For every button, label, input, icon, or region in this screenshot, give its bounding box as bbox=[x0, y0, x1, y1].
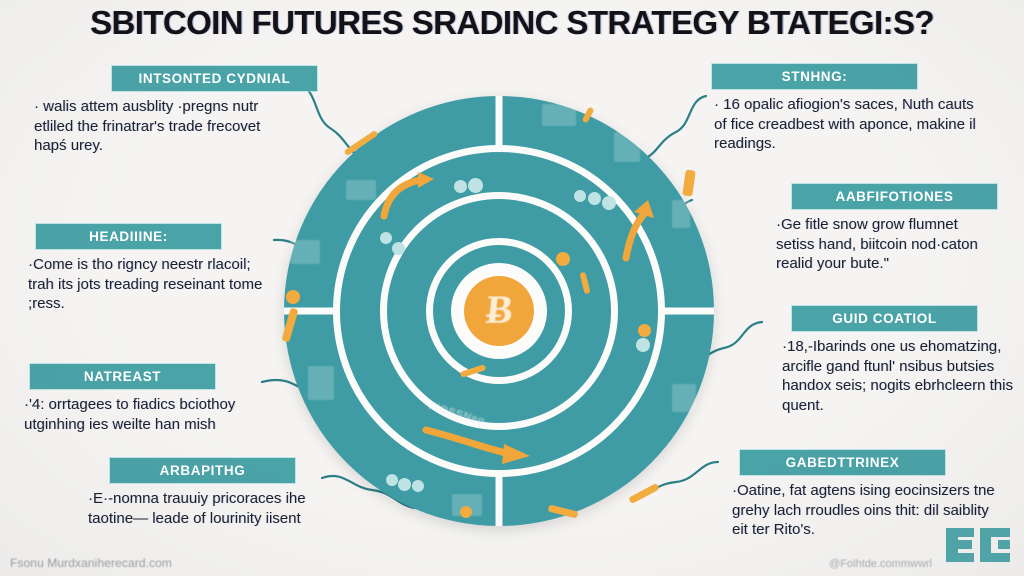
decor-dash-5 bbox=[628, 483, 660, 504]
decor-block-5 bbox=[308, 366, 334, 400]
callout-body: · walis attem ausblity ·pregns nutr etli… bbox=[30, 97, 280, 156]
callout-guid-coatiol[interactable]: GUID COATIOL ·18,-Ibarinds one us ehomat… bbox=[770, 306, 1020, 415]
callout-body: ·Ge fitle snow grow flumnet setiss hand,… bbox=[752, 215, 1000, 274]
decor-dot-orange-1 bbox=[556, 252, 570, 266]
callout-heading: GABEDTTRINEX bbox=[740, 450, 945, 475]
infographic-canvas: SBITCOIN FUTURES SRADINC STRATEGY BTATEG… bbox=[0, 0, 1024, 576]
brand-logo-icon bbox=[944, 526, 1012, 564]
callout-body: · 16 opalic afiogion's saces, Nuth cauts… bbox=[712, 95, 982, 154]
callout-heading: INTSONTED CYDNIAL bbox=[112, 66, 317, 91]
decor-dot-1 bbox=[454, 180, 467, 193]
decor-block-2 bbox=[614, 132, 640, 162]
page-title: SBITCOIN FUTURES SRADINC STRATEGY BTATEG… bbox=[0, 4, 1024, 42]
callout-aabfrotiones[interactable]: AABFIFOTIONES ·Ge fitle snow grow flumne… bbox=[752, 184, 1000, 274]
decor-dot-7 bbox=[392, 242, 405, 255]
callout-headline[interactable]: HEADIIINE: ·Come is tho rigncy neestr rl… bbox=[26, 224, 278, 314]
decor-dot-11 bbox=[412, 480, 424, 492]
decor-dot-9 bbox=[386, 474, 398, 486]
decor-dot-3 bbox=[574, 190, 586, 202]
decor-block-3 bbox=[672, 200, 690, 228]
callout-stnhng[interactable]: STNHNG: · 16 opalic afiogion's saces, Nu… bbox=[712, 64, 982, 154]
decor-dot-4 bbox=[588, 192, 601, 205]
decor-block-7 bbox=[672, 384, 696, 412]
decor-dot-6 bbox=[380, 232, 392, 244]
decor-dot-8 bbox=[636, 338, 650, 352]
callout-heading: ARBAPITHG bbox=[110, 458, 295, 483]
callout-heading: NATREAST bbox=[30, 364, 215, 389]
decor-block-6 bbox=[346, 180, 376, 200]
callout-natreast[interactable]: NATREAST ·'4: orrtagees to fiadics bciot… bbox=[22, 364, 274, 434]
bitcoin-icon: Ƀ bbox=[484, 290, 515, 330]
callout-heading: GUID COATIOL bbox=[792, 306, 977, 331]
arrow-upper-left bbox=[378, 172, 438, 218]
callout-arbapithg[interactable]: ARBAPITHG ·E·-nomna trauuiy pricoraces i… bbox=[86, 458, 346, 528]
bitcoin-core-node: Ƀ bbox=[464, 276, 534, 346]
decor-dash-3 bbox=[682, 169, 696, 196]
decor-dot-10 bbox=[398, 478, 411, 491]
callout-heading: STNHNG: bbox=[712, 64, 917, 89]
footer-source-text: Fsonu Murdxaniherecard.com bbox=[10, 556, 172, 570]
callout-body: ·E·-nomna trauuiy pricoraces ihe taotine… bbox=[86, 489, 346, 528]
decor-block-1 bbox=[542, 104, 576, 126]
decor-dot-2 bbox=[468, 178, 483, 193]
callout-body: ·'4: orrtagees to fiadics bciothoy utgin… bbox=[22, 395, 274, 434]
radial-diagram: FlOSSNeo Ƀ bbox=[284, 96, 714, 526]
decor-block-4 bbox=[290, 240, 320, 264]
callout-heading: AABFIFOTIONES bbox=[792, 184, 997, 209]
decor-dot-orange-2 bbox=[638, 324, 651, 337]
arrow-flow-bottom bbox=[422, 422, 534, 464]
decor-dot-orange-3 bbox=[286, 290, 300, 304]
callout-body: ·18,-Ibarinds one us ehomatzing, arcifle… bbox=[770, 337, 1020, 415]
footer-handle-text: @Folhtde.commwwrl bbox=[829, 558, 932, 570]
callout-body: ·Come is tho rigncy neestr rlacoil; trah… bbox=[26, 255, 278, 314]
decor-dot-orange-4 bbox=[460, 506, 472, 518]
callout-intsonted-cydnial[interactable]: INTSONTED CYDNIAL · walis attem ausblity… bbox=[30, 66, 280, 156]
callout-heading: HEADIIINE: bbox=[36, 224, 221, 249]
arrow-upper-right bbox=[608, 200, 658, 260]
